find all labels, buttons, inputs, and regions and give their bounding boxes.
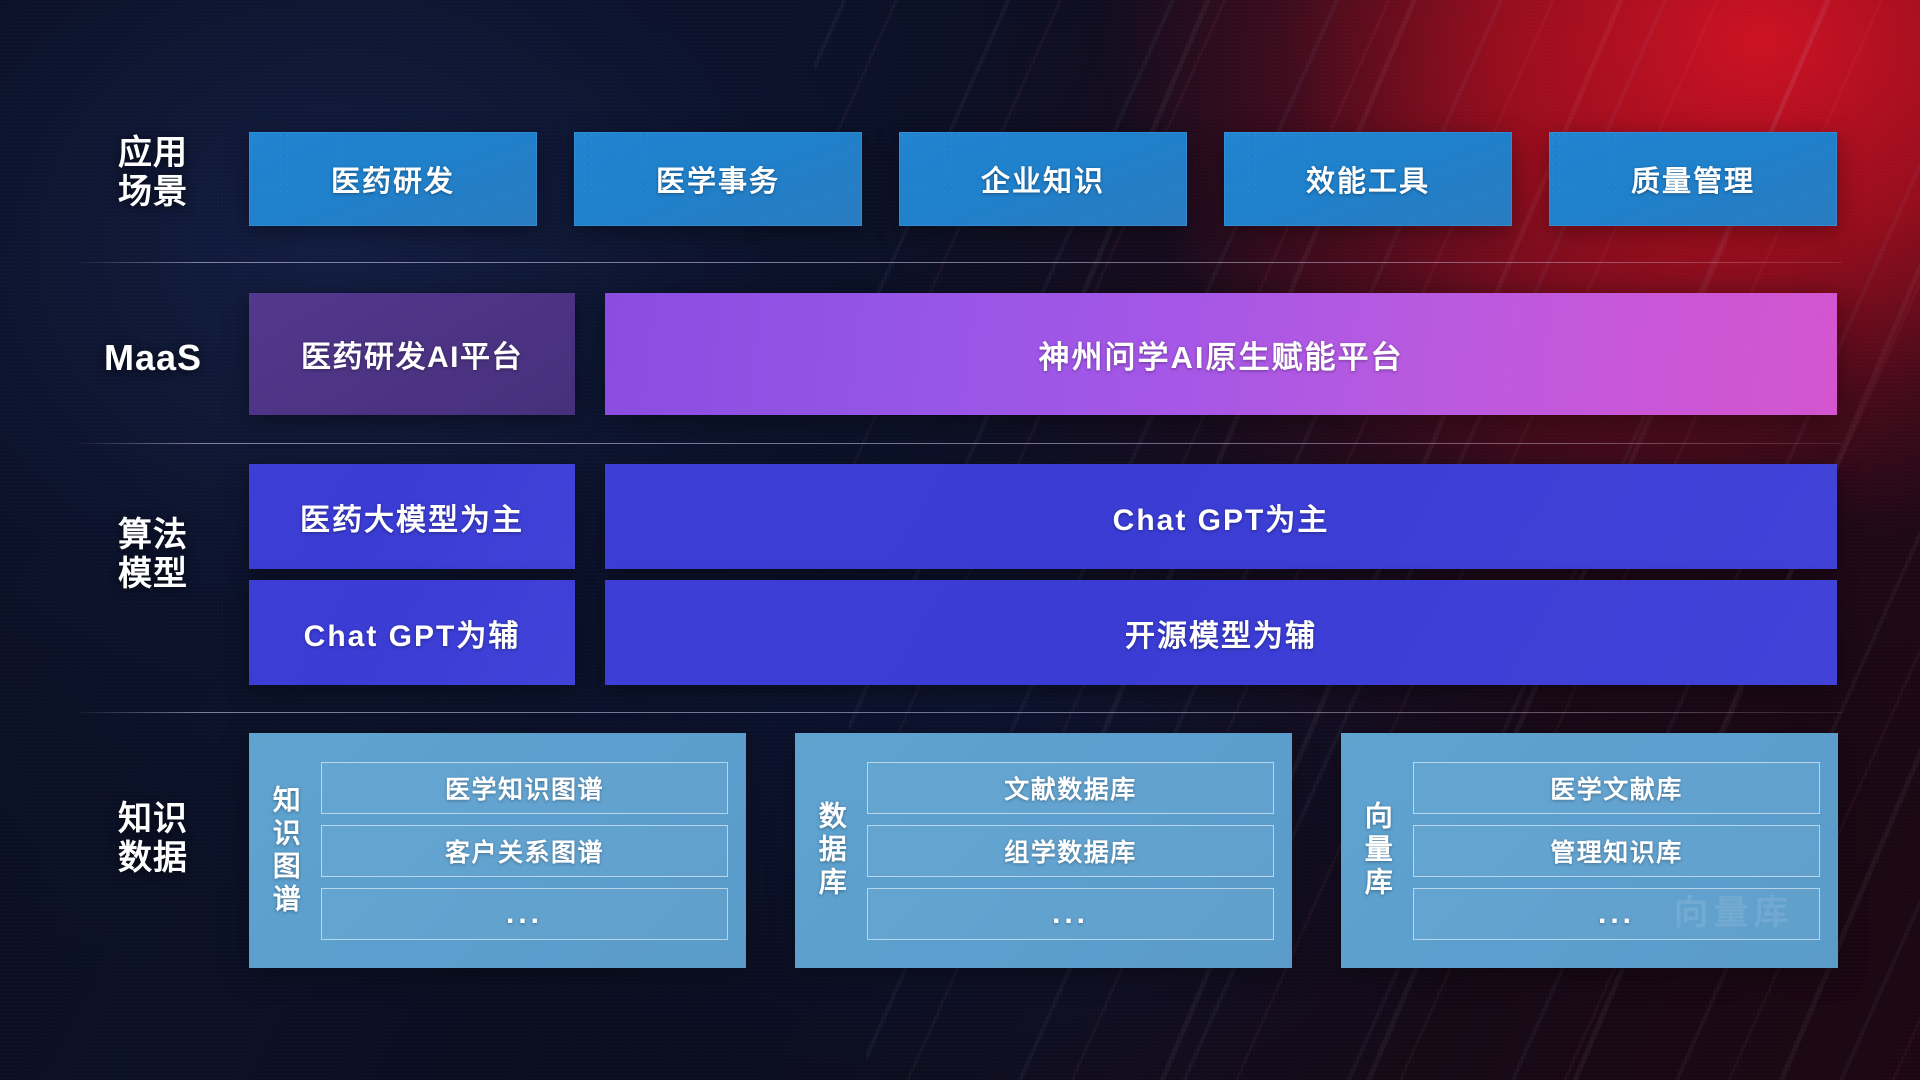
maas-card-enablement-platform[interactable]: 神州问学AI原生赋能平台 bbox=[605, 293, 1837, 415]
algorithm-card-label: 开源模型为辅 bbox=[1125, 611, 1317, 655]
knowledge-group-label: 向量库 bbox=[1341, 747, 1413, 954]
app-scenario-card-5[interactable]: 质量管理 bbox=[1549, 132, 1837, 226]
app-scenario-label: 医药研发 bbox=[331, 158, 455, 200]
app-scenario-label: 医学事务 bbox=[656, 158, 780, 200]
algorithm-card-label: Chat GPT为主 bbox=[1113, 495, 1330, 539]
app-scenario-card-3[interactable]: 企业知识 bbox=[899, 132, 1187, 226]
knowledge-item[interactable]: 管理知识库 bbox=[1413, 825, 1820, 877]
algorithm-card-pharma-primary[interactable]: 医药大模型为主 bbox=[249, 464, 575, 569]
app-scenario-card-2[interactable]: 医学事务 bbox=[574, 132, 862, 226]
maas-card-pharma-platform[interactable]: 医药研发AI平台 bbox=[249, 293, 575, 415]
algorithm-card-chatgpt-primary[interactable]: Chat GPT为主 bbox=[605, 464, 1837, 569]
divider-maas-algorithm bbox=[78, 443, 1842, 444]
knowledge-item-more[interactable]: ... bbox=[321, 888, 728, 940]
app-scenario-card-4[interactable]: 效能工具 bbox=[1224, 132, 1512, 226]
knowledge-item[interactable]: 客户关系图谱 bbox=[321, 825, 728, 877]
app-scenario-label: 效能工具 bbox=[1306, 158, 1430, 200]
divider-application-maas bbox=[78, 262, 1842, 263]
app-scenario-label: 企业知识 bbox=[981, 158, 1105, 200]
knowledge-group-label: 数据库 bbox=[795, 747, 867, 954]
row-label-knowledge: 知识 数据 bbox=[78, 800, 228, 879]
knowledge-item-list: 医学文献库 管理知识库 ... bbox=[1413, 747, 1820, 954]
maas-card-label: 神州问学AI原生赋能平台 bbox=[1039, 332, 1404, 377]
knowledge-item[interactable]: 医学知识图谱 bbox=[321, 762, 728, 814]
knowledge-item[interactable]: 文献数据库 bbox=[867, 762, 1274, 814]
algorithm-card-label: Chat GPT为辅 bbox=[304, 611, 521, 655]
app-scenario-label: 质量管理 bbox=[1631, 158, 1755, 200]
knowledge-group-vector[interactable]: 向量库 医学文献库 管理知识库 ... 向量库 bbox=[1341, 733, 1838, 968]
knowledge-item-list: 文献数据库 组学数据库 ... bbox=[867, 747, 1274, 954]
knowledge-group-label: 知识图谱 bbox=[249, 747, 321, 954]
knowledge-item-more[interactable]: ... bbox=[1413, 888, 1820, 940]
algorithm-card-opensource-secondary[interactable]: 开源模型为辅 bbox=[605, 580, 1837, 685]
app-scenario-card-1[interactable]: 医药研发 bbox=[249, 132, 537, 226]
divider-algorithm-knowledge bbox=[78, 712, 1842, 713]
algorithm-card-label: 医药大模型为主 bbox=[300, 495, 524, 539]
row-label-maas: MaaS bbox=[78, 337, 228, 379]
algorithm-card-chatgpt-secondary[interactable]: Chat GPT为辅 bbox=[249, 580, 575, 685]
knowledge-group-graph[interactable]: 知识图谱 医学知识图谱 客户关系图谱 ... bbox=[249, 733, 746, 968]
knowledge-item[interactable]: 组学数据库 bbox=[867, 825, 1274, 877]
row-label-application: 应用 场景 bbox=[78, 134, 228, 213]
knowledge-item-more[interactable]: ... bbox=[867, 888, 1274, 940]
row-label-algorithm: 算法 模型 bbox=[78, 516, 228, 595]
knowledge-item[interactable]: 医学文献库 bbox=[1413, 762, 1820, 814]
knowledge-item-list: 医学知识图谱 客户关系图谱 ... bbox=[321, 747, 728, 954]
diagram-canvas: 应用 场景 医药研发 医学事务 企业知识 效能工具 质量管理 MaaS 医药研发… bbox=[0, 0, 1920, 1080]
knowledge-group-database[interactable]: 数据库 文献数据库 组学数据库 ... bbox=[795, 733, 1292, 968]
maas-card-label: 医药研发AI平台 bbox=[301, 332, 523, 376]
